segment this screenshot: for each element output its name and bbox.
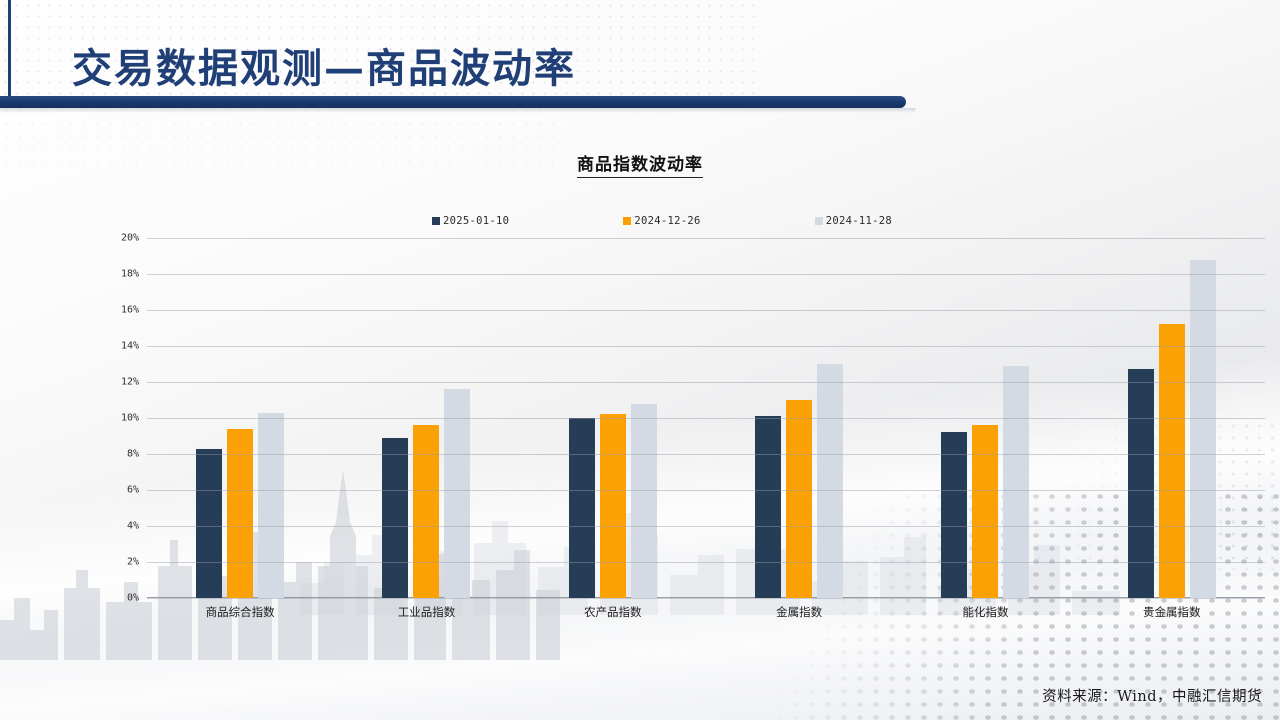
y-gridline [147,310,1265,311]
legend-item[interactable]: 2024-12-26 [623,215,700,227]
bar[interactable] [600,414,626,598]
title-accent-line [8,0,11,96]
y-gridline [147,274,1265,275]
y-axis-tick-label: 8% [127,449,139,460]
bar[interactable] [196,449,222,598]
page-title: 交易数据观测—商品波动率 [72,36,576,94]
bar[interactable] [444,389,470,598]
bar[interactable] [1128,369,1154,598]
source-note: 资料来源：Wind，中融汇信期货 [1042,685,1262,706]
x-axis-category-label: 工业品指数 [333,604,519,620]
legend-label: 2025-01-10 [443,215,509,227]
y-gridline [147,562,1265,563]
header-divider-bar [0,96,906,108]
chart-title: 商品指数波动率 [0,150,1280,175]
y-axis-tick-label: 6% [127,485,139,496]
bar[interactable] [755,416,781,598]
legend-item[interactable]: 2024-11-28 [815,215,892,227]
legend-swatch-icon [623,217,631,225]
bar[interactable] [413,425,439,598]
x-axis-category-label: 能化指数 [892,604,1078,620]
y-axis-tick-label: 4% [127,521,139,532]
y-gridline [147,454,1265,455]
y-gridline [147,598,1265,599]
bar[interactable] [382,438,408,598]
bar[interactable] [941,432,967,598]
chart-plot-area: 商品综合指数工业品指数农产品指数金属指数能化指数贵金属指数 0%2%4%6%8%… [147,238,1265,598]
y-gridline [147,418,1265,419]
x-axis-category-label: 金属指数 [706,604,892,620]
y-axis-tick-label: 0% [127,593,139,604]
bar[interactable] [1159,324,1185,598]
slide: 交易数据观测—商品波动率 商品指数波动率 2025-01-102024-12-2… [0,0,1280,720]
y-axis-tick-label: 14% [121,341,139,352]
y-gridline [147,382,1265,383]
legend-item[interactable]: 2025-01-10 [432,215,509,227]
y-axis-tick-label: 2% [127,557,139,568]
bar[interactable] [972,425,998,598]
legend-label: 2024-12-26 [634,215,700,227]
chart-title-text: 商品指数波动率 [577,155,703,178]
bar[interactable] [786,400,812,598]
y-axis-tick-label: 18% [121,269,139,280]
legend-swatch-icon [432,217,440,225]
y-gridline [147,490,1265,491]
y-axis-tick-label: 12% [121,377,139,388]
y-axis-tick-label: 10% [121,413,139,424]
x-axis-category-label: 商品综合指数 [147,604,333,620]
header-divider-bar-shadow [0,108,916,113]
bar[interactable] [1003,366,1029,598]
bar[interactable] [631,404,657,598]
legend-swatch-icon [815,217,823,225]
y-axis-tick-label: 16% [121,305,139,316]
y-gridline [147,526,1265,527]
legend-label: 2024-11-28 [826,215,892,227]
x-axis-category-label: 贵金属指数 [1079,604,1265,620]
bar[interactable] [258,413,284,598]
y-axis-tick-label: 20% [121,233,139,244]
chart-legend: 2025-01-102024-12-262024-11-28 [432,215,892,227]
y-gridline [147,238,1265,239]
bar[interactable] [569,418,595,598]
x-axis-category-label: 农产品指数 [520,604,706,620]
y-gridline [147,346,1265,347]
